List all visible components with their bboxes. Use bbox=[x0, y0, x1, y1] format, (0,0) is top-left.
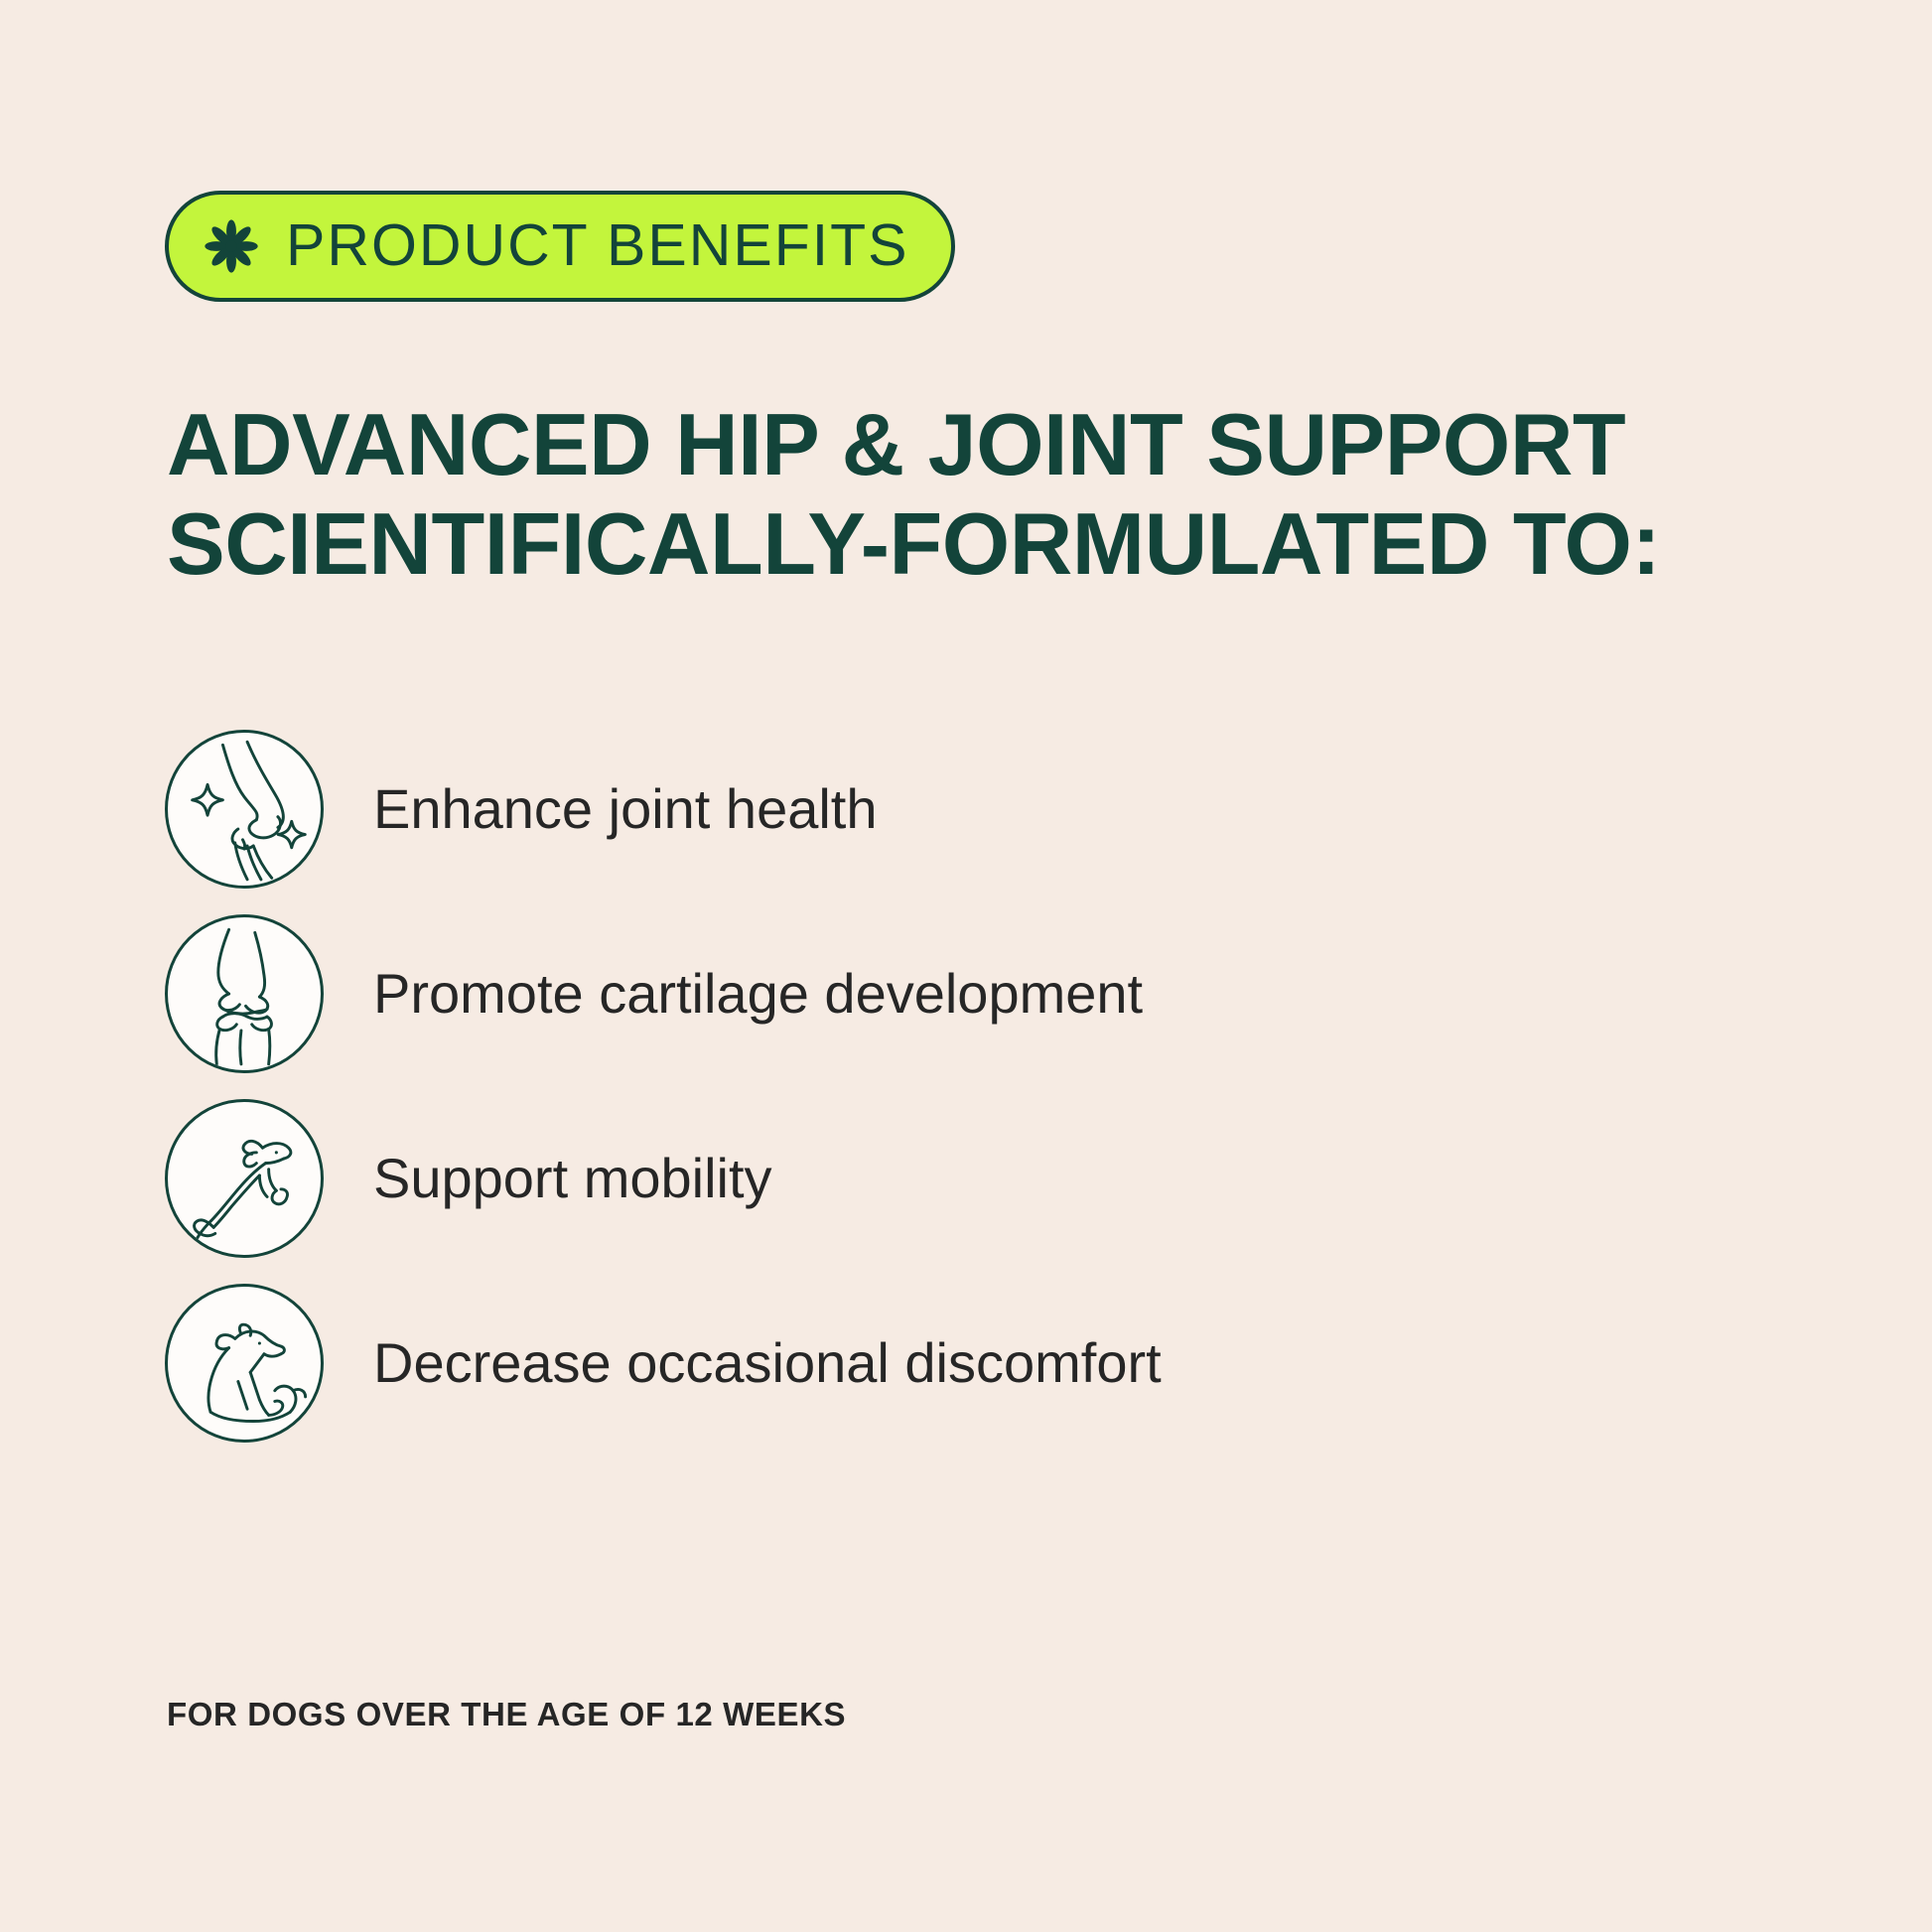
list-item: Promote cartilage development bbox=[165, 901, 1793, 1086]
benefit-label: Support mobility bbox=[373, 1148, 772, 1209]
headline-line-2: SCIENTIFICALLY-FORMULATED TO: bbox=[167, 494, 1795, 594]
asterisk-flower-icon bbox=[203, 217, 260, 275]
product-benefits-card: PRODUCT BENEFITS ADVANCED HIP & JOINT SU… bbox=[0, 0, 1932, 1932]
sparkle-icon bbox=[193, 784, 223, 815]
benefit-label: Decrease occasional discomfort bbox=[373, 1332, 1162, 1394]
list-item: Support mobility bbox=[165, 1086, 1793, 1271]
page-title: ADVANCED HIP & JOINT SUPPORT SCIENTIFICA… bbox=[167, 395, 1795, 595]
badge-label: PRODUCT BENEFITS bbox=[286, 216, 909, 275]
headline-line-1: ADVANCED HIP & JOINT SUPPORT bbox=[167, 395, 1795, 494]
jumping-dog-icon bbox=[165, 1099, 324, 1258]
benefit-label: Promote cartilage development bbox=[373, 963, 1143, 1025]
benefit-label: Enhance joint health bbox=[373, 778, 878, 840]
benefits-list: Enhance joint health bbox=[165, 717, 1793, 1455]
knee-joint-sparkle-icon bbox=[165, 730, 324, 889]
resting-dog-icon bbox=[165, 1284, 324, 1443]
list-item: Decrease occasional discomfort bbox=[165, 1271, 1793, 1455]
knee-cartilage-icon bbox=[165, 914, 324, 1073]
list-item: Enhance joint health bbox=[165, 717, 1793, 901]
age-requirement-footnote: FOR DOGS OVER THE AGE OF 12 WEEKS bbox=[167, 1696, 846, 1733]
product-benefits-badge: PRODUCT BENEFITS bbox=[165, 191, 955, 302]
